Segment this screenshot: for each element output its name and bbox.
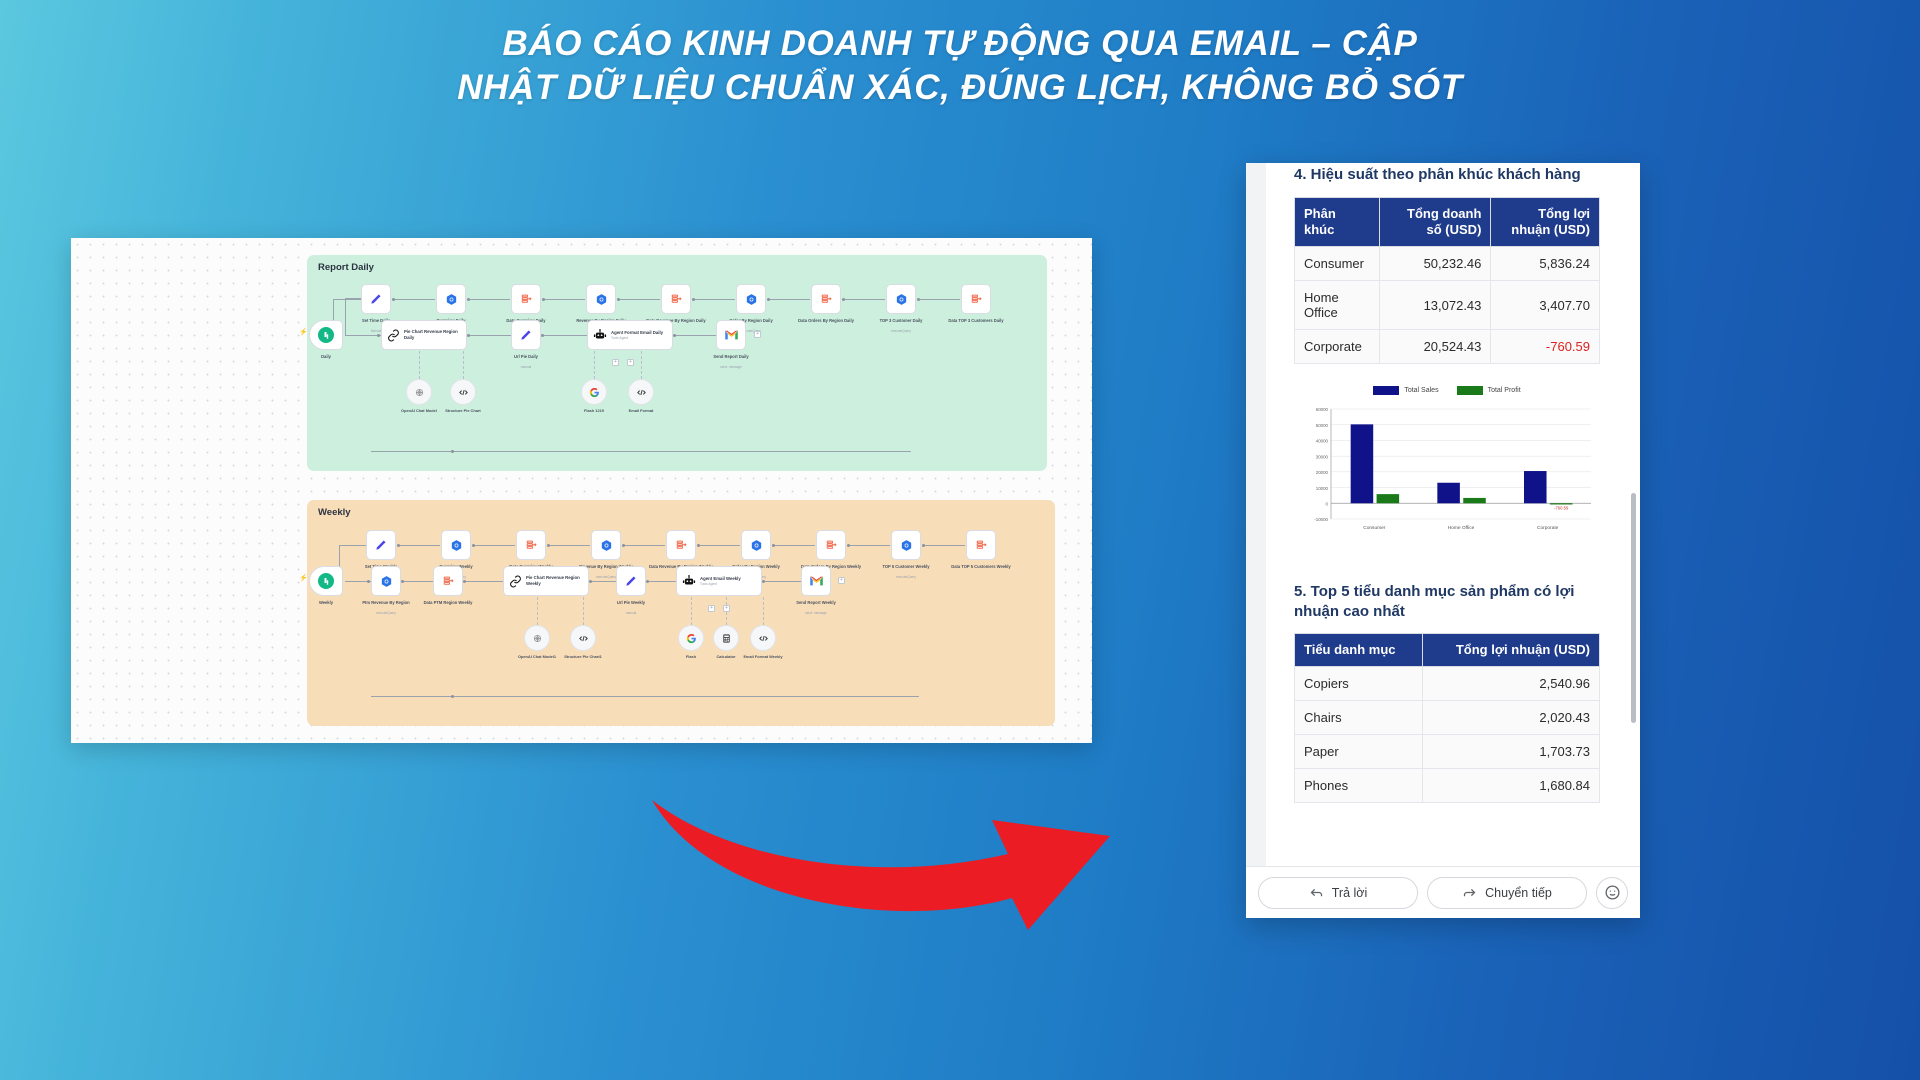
workflow-tool-link [691,597,692,625]
connector-dot [367,580,370,583]
cell-subcategory-profit: 1,680.84 [1422,769,1599,803]
reply-arrow-icon [1309,885,1324,900]
decorative-arrow [640,780,1160,930]
workflow-node-daily-send[interactable]: Send Report Dailysend: message [716,320,746,350]
legend-swatch-total-sales [1373,386,1399,395]
hexagon-icon [445,293,458,306]
workflow-node-weekly-agent[interactable]: Agent Email WeeklyTools Agent [676,566,762,596]
workflow-node-weekly-4[interactable]: Data Revenue By Region Weekly [666,530,696,560]
cell-subcategory-profit: 2,540.96 [1422,667,1599,701]
cell-subcategory: Copiers [1295,667,1423,701]
workflow-node-weekly-8[interactable]: Data TOP 5 Customers Weekly [966,530,996,560]
workflow-node-daily-8[interactable]: Data TOP 3 Customers Daily [961,284,991,314]
email-action-bar: Trả lời Chuyển tiếp [1246,866,1640,918]
node-label: TOP 5 Customer Weekly [870,564,942,570]
workflow-edge [590,581,616,582]
connector-dot [463,580,466,583]
hexagon-icon [450,539,463,552]
workflow-node-weekly-2[interactable]: Data Overview Weekly [516,530,546,560]
workflow-node-daily-tool-2[interactable]: Flash 1219 [581,379,607,405]
trigger-bolt-icon: ⚡ [299,328,308,336]
section-title-weekly: Weekly [318,507,351,518]
cell-subcategory-profit: 1,703.73 [1422,735,1599,769]
bar-total-sales [1351,424,1374,503]
forward-arrow-icon [1462,885,1477,900]
workflow-node-weekly-3[interactable]: Revenue By Region WeeklyexecuteQuery [591,530,621,560]
pencil-icon [374,538,388,552]
workflow-node-weekly-pie[interactable]: Pie Chart Revenue Region Weekly [503,566,589,596]
database-icon [675,539,688,552]
y-axis-tick-label: -10000 [1314,517,1328,522]
legend-label-total-sales: Total Sales [1404,387,1438,394]
node-label: Data TOP 3 Customers Daily [940,318,1012,324]
cell-segment: Home Office [1295,281,1380,330]
connector-dot [847,544,850,547]
clock-icon [318,327,334,343]
y-axis-tick-label: 30000 [1316,454,1329,459]
database-icon [820,293,833,306]
workflow-edge [467,299,510,300]
emoji-button[interactable] [1596,877,1628,909]
workflow-node-weekly-tool-1[interactable]: Structure Pie Chart1 [570,625,596,651]
node-label: TOP 3 Customer Daily [865,318,937,324]
workflow-edge [922,545,965,546]
table-row: Corporate20,524.43-760.59 [1295,330,1600,364]
connector-dot [842,298,845,301]
workflow-edge [674,335,716,336]
workflow-node-daily-6[interactable]: Data Orders By Region Daily [811,284,841,314]
chart-legend: Total Sales Total Profit [1294,386,1600,395]
page-title: BÁO CÁO KINH DOANH TỰ ĐỘNG QUA EMAIL – C… [0,22,1920,110]
table-header-row: Tiểu danh mục Tổng lợi nhuận (USD) [1295,634,1600,667]
bar-total-profit [1550,503,1573,504]
workflow-node-daily-tool-0[interactable]: OpenAI Chat Model [406,379,432,405]
calculator-icon [721,633,732,644]
connector-dot [772,544,775,547]
cell-profit: 3,407.70 [1491,281,1600,330]
connector-dot [472,544,475,547]
top-subcategory-table: Tiểu danh mục Tổng lợi nhuận (USD) Copie… [1294,633,1600,803]
table-row: Consumer50,232.465,836.24 [1295,247,1600,281]
workflow-node-daily-3[interactable]: Revenue By Region DailyexecuteQuery [586,284,616,314]
pencil-icon [624,574,638,588]
node-label: Data PTM Region Weekly [412,600,484,606]
cell-profit: 5,836.24 [1491,247,1600,281]
section-5-heading: 5. Top 5 tiểu danh mục sản phẩm có lợi n… [1294,582,1600,621]
database-icon [970,293,983,306]
node-label: Email Format Weekly [731,654,795,659]
pencil-icon [519,328,533,342]
cell-subcategory-profit: 2,020.43 [1422,701,1599,735]
node-label: Send Report Daily [695,354,767,360]
pencil-icon [369,292,383,306]
workflow-edge [468,335,511,336]
node-label: Daily [290,354,362,360]
workflow-node-weekly-6[interactable]: Data Orders By Region Weekly [816,530,846,560]
table-row: Phones1,680.84 [1295,769,1600,803]
email-scroll-area[interactable]: 4. Hiệu suất theo phân khúc khách hàng P… [1246,163,1640,866]
title-line-2: NHẬT DỮ LIỆU CHUẨN XÁC, ĐÚNG LỊCH, KHÔNG… [0,66,1920,110]
code-icon [758,633,769,644]
workflow-node-weekly-trigger[interactable]: Weekly [309,566,343,596]
workflow-edge [767,299,810,300]
reply-button[interactable]: Trả lời [1258,877,1418,909]
openai-icon [532,633,543,644]
add-node-button[interactable]: + [838,577,845,584]
workflow-node-weekly-0[interactable]: Set Time Weeklymanual [366,530,396,560]
workflow-edge [842,299,885,300]
y-axis-tick-label: 40000 [1316,439,1329,444]
node-sublabel: executeQuery [350,611,422,615]
connector-dot [917,298,920,301]
node-label: Url Pie Daily [490,354,562,360]
node-sublabel: manual [490,365,562,369]
table-row: Copiers2,540.96 [1295,667,1600,701]
forward-label: Chuyển tiếp [1485,886,1552,900]
workflow-edge [692,299,735,300]
node-subtitle: Tools Agent [611,336,667,340]
node-title: Agent Email Weekly [700,576,756,582]
column-header-profit: Tổng lợi nhuận (USD) [1491,197,1600,247]
robot-icon [593,328,607,342]
node-sublabel: send: message [695,365,767,369]
node-label: Data Orders By Region Daily [790,318,862,324]
workflow-node-daily-0[interactable]: Set Time DailyManual [361,284,391,314]
node-title: Pie Chart Revenue Region Weekly [526,575,582,587]
x-axis-tick-label: Consumer [1363,525,1386,531]
connector-dot [622,544,625,547]
node-label: Structure Pie Chart [431,408,495,413]
column-header-sales: Tổng doanh số (USD) [1379,197,1491,247]
cell-segment: Corporate [1295,330,1380,364]
connector-dot [692,298,695,301]
workflow-edge [339,545,367,546]
bar-value-label-negative: -760.59 [1554,505,1569,510]
hexagon-icon [900,539,913,552]
node-label: Url Pie Weekly [595,600,667,606]
cell-profit: -760.59 [1491,330,1600,364]
forward-button[interactable]: Chuyển tiếp [1427,877,1587,909]
section-4-heading: 4. Hiệu suất theo phân khúc khách hàng [1294,165,1600,185]
email-report-panel: 4. Hiệu suất theo phân khúc khách hàng P… [1246,163,1640,918]
robot-icon [682,574,696,588]
node-sublabel: executeQuery [870,575,942,579]
workflow-node-weekly-url[interactable]: Url Pie Weeklymanual [616,566,646,596]
connector-dot [377,334,380,337]
add-node-button[interactable]: + [708,605,715,612]
workflow-node-weekly-1[interactable]: Overview WeeklyexecuteQuery [441,530,471,560]
legend-swatch-total-profit [1457,386,1483,395]
workflow-node-daily-agent[interactable]: Agent Format Email DailyTools Agent [587,320,673,350]
connector-dot [589,580,592,583]
connector-dot [467,334,470,337]
node-subtitle: Tools Agent [700,582,756,586]
table-row: Chairs2,020.43 [1295,701,1600,735]
workflow-edge [542,299,585,300]
add-node-button[interactable]: + [723,605,730,612]
table-header-row: Phân khúc Tổng doanh số (USD) Tổng lợi n… [1295,197,1600,247]
code-icon [636,387,647,398]
database-icon [520,293,533,306]
gmail-icon [724,329,739,341]
database-icon [525,539,538,552]
link-icon [509,575,522,588]
y-axis-tick-label: 0 [1326,501,1329,506]
reply-label: Trả lời [1332,886,1368,900]
workflow-edge [847,545,890,546]
node-sublabel: executeQuery [865,329,937,333]
node-sublabel: send: message [780,611,852,615]
connector-dot [646,580,649,583]
workflow-node-daily-tool-1[interactable]: Structure Pie Chart [450,379,476,405]
bar-total-sales [1437,483,1460,504]
cell-sales: 50,232.46 [1379,247,1491,281]
email-left-strip [1246,163,1266,866]
y-axis-tick-label: 10000 [1316,486,1329,491]
segment-bar-chart: -100000100002000030000400005000060000Con… [1294,401,1600,551]
column-header-subcategory: Tiểu danh mục [1295,634,1423,667]
workflow-edge [464,581,503,582]
connector-dot [467,298,470,301]
workflow-node-weekly-send[interactable]: Send Report Weeklysend: message [801,566,831,596]
workflow-node-daily-tool-3[interactable]: Email Format [628,379,654,405]
column-header-subcategory-profit: Tổng lợi nhuận (USD) [1422,634,1599,667]
title-line-1: BÁO CÁO KINH DOANH TỰ ĐỘNG QUA EMAIL – C… [0,22,1920,66]
workflow-edge [392,299,435,300]
node-label: Email Format [609,408,673,413]
workflow-edge [472,545,515,546]
connector-dot [542,298,545,301]
workflow-node-weekly-5[interactable]: Order By Region WeeklyexecuteQuery [741,530,771,560]
connector-dot [401,580,404,583]
workflow-edge [397,545,440,546]
connector-dot [673,334,676,337]
hexagon-icon [895,293,908,306]
link-icon [387,329,400,342]
hexagon-icon [745,293,758,306]
x-axis-tick-label: Corporate [1537,525,1559,531]
cell-subcategory: Chairs [1295,701,1423,735]
workflow-edge [333,299,363,300]
connector-dot [617,298,620,301]
email-scrollbar[interactable] [1631,493,1636,723]
connector-dot [451,450,454,453]
connector-dot [541,334,544,337]
add-node-button[interactable]: + [627,359,634,366]
workflow-node-weekly-tool-3[interactable]: Calculator [713,625,739,651]
cell-sales: 20,524.43 [1379,330,1491,364]
trigger-bolt-icon: ⚡ [299,574,308,582]
workflow-tool-link [463,351,464,379]
workflow-node-weekly-tool-4[interactable]: Email Format Weekly [750,625,776,651]
workflow-tool-link [419,351,420,379]
workflow-tool-link [594,351,595,379]
workflow-node-daily-pie[interactable]: Pie Chart Revenue Region Daily [381,320,467,350]
connector-dot [451,695,454,698]
cell-subcategory: Phones [1295,769,1423,803]
workflow-edge [542,335,587,336]
legend-item-total-profit: Total Profit [1457,386,1521,395]
database-icon [670,293,683,306]
y-axis-tick-label: 20000 [1316,470,1329,475]
table-row: Home Office13,072.433,407.70 [1295,281,1600,330]
workflow-edge [333,300,334,321]
workflow-edge [547,545,590,546]
workflow-node-weekly-tool-2[interactable]: Flash [678,625,704,651]
connector-dot [767,298,770,301]
gmail-icon [809,575,824,587]
section-title-daily: Report Daily [318,262,374,273]
connector-dot [397,544,400,547]
workflow-node-daily-5[interactable]: Order By Region DailyexecuteQuery [736,284,766,314]
node-sublabel: manual [595,611,667,615]
connector-dot [922,544,925,547]
hexagon-icon [595,293,608,306]
code-icon [458,387,469,398]
connector-dot [762,580,765,583]
workflow-edge [622,545,665,546]
node-label: Send Report Weekly [780,600,852,606]
node-title: Agent Format Email Daily [611,330,667,336]
workflow-edge [617,299,660,300]
openai-icon [414,387,425,398]
hexagon-icon [380,575,393,588]
add-node-button[interactable]: + [754,331,761,338]
cell-subcategory: Paper [1295,735,1423,769]
workflow-node-daily-4[interactable]: Data Revenue By Region Daily [661,284,691,314]
workflow-node-weekly-ptm[interactable]: Ptm Revenue By RegionexecuteQuery [371,566,401,596]
code-icon [578,633,589,644]
hexagon-icon [750,539,763,552]
workflow-edge [697,545,740,546]
clock-icon [318,573,334,589]
cell-sales: 13,072.43 [1379,281,1491,330]
workflow-edge [763,581,801,582]
workflow-edge [402,581,433,582]
segment-performance-table: Phân khúc Tổng doanh số (USD) Tổng lợi n… [1294,197,1600,365]
google-icon [686,633,697,644]
node-title: Pie Chart Revenue Region Daily [404,329,460,341]
workflow-node-daily-2[interactable]: Data Overview Daily [511,284,541,314]
x-axis-tick-label: Home Office [1448,525,1475,531]
workflow-tool-link [583,597,584,625]
workflow-tool-link [763,597,764,625]
workflow-node-weekly-7[interactable]: TOP 5 Customer WeeklyexecuteQuery [891,530,921,560]
bar-total-profit [1377,494,1400,503]
workflow-node-daily-1[interactable]: Overview DailyexecuteQuery [436,284,466,314]
workflow-node-weekly-tool-0[interactable]: OpenAI Chat Model1 [524,625,550,651]
workflow-node-weekly-data-ptm[interactable]: Data PTM Region Weekly [433,566,463,596]
y-axis-tick-label: 50000 [1316,423,1329,428]
y-axis-tick-label: 60000 [1316,407,1329,412]
workflow-canvas-card: Report Daily Weekly WHERE DATE(confirm_d… [71,238,1092,743]
add-node-button[interactable]: + [612,359,619,366]
workflow-edge [339,546,340,567]
bar-total-profit [1463,498,1486,503]
column-header-segment: Phân khúc [1295,197,1380,247]
connector-dot [547,544,550,547]
workflow-tool-link [641,351,642,379]
database-icon [825,539,838,552]
google-icon [589,387,600,398]
legend-label-total-profit: Total Profit [1488,387,1521,394]
node-label: Structure Pie Chart1 [551,654,615,659]
connector-dot [697,544,700,547]
workflow-edge [345,335,381,336]
hexagon-icon [600,539,613,552]
workflow-edge [772,545,815,546]
table-row: Paper1,703.73 [1295,735,1600,769]
cell-segment: Consumer [1295,247,1380,281]
workflow-tool-link [537,597,538,625]
emoji-icon [1604,884,1621,901]
database-icon [975,539,988,552]
workflow-node-daily-url[interactable]: Url Pie Dailymanual [511,320,541,350]
node-label: Data TOP 5 Customers Weekly [945,564,1017,570]
workflow-edge [917,299,960,300]
workflow-node-daily-trigger[interactable]: Daily [309,320,343,350]
connector-dot [392,298,395,301]
legend-item-total-sales: Total Sales [1373,386,1438,395]
bar-total-sales [1524,471,1547,503]
workflow-edge [647,581,676,582]
database-icon [442,575,455,588]
workflow-node-daily-7[interactable]: TOP 3 Customer DailyexecuteQuery [886,284,916,314]
